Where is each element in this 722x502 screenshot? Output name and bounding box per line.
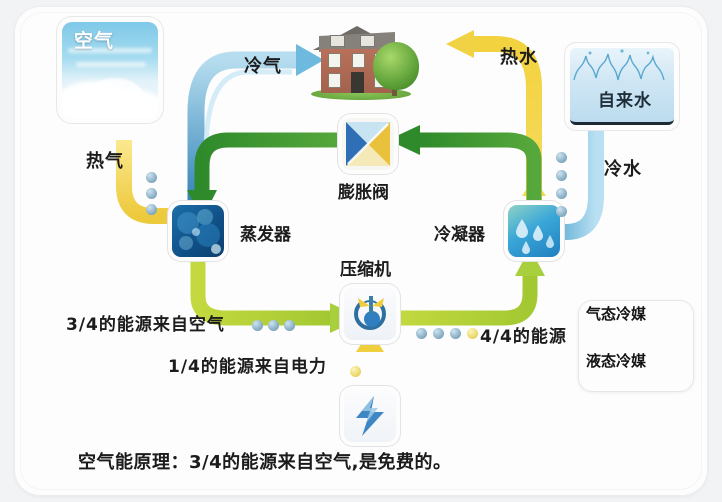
water-splash-icon (570, 48, 674, 82)
total-energy-dot-electric (467, 328, 478, 339)
caption-text: 空气能原理：3/4的能源来自空气,是免费的。 (78, 448, 451, 474)
evaporator-label: 蒸发器 (240, 220, 291, 245)
evaporator-icon[interactable] (172, 205, 224, 257)
air-energy-dot (146, 188, 157, 199)
condenser-label: 冷凝器 (434, 220, 485, 245)
hot-water-label: 热水 (500, 48, 538, 68)
electric-energy-dot (350, 366, 361, 377)
expansion-valve-icon[interactable] (342, 118, 394, 170)
air-energy-dot (268, 320, 279, 331)
cool-air-label: 冷气 (244, 52, 282, 78)
hot-air-label: 热气 (86, 152, 124, 172)
cold-water-text: 冷水 (604, 159, 642, 180)
total-energy-dot (450, 328, 461, 339)
condenser-icon[interactable] (508, 205, 560, 257)
water-energy-dot (556, 188, 567, 199)
legend-gas-label: 气态冷媒 (586, 303, 646, 324)
water-energy-dot (556, 206, 567, 217)
total-energy-dot (433, 328, 444, 339)
air-energy-dot (146, 172, 157, 183)
compressor-icon[interactable] (344, 288, 396, 340)
air-energy-dot (146, 204, 157, 215)
lightning-bolt-icon[interactable] (344, 390, 396, 442)
diagram-canvas: 空气 自来水 膨胀阀 (0, 0, 722, 502)
tap-water-label: 自来水 (598, 86, 652, 111)
compressor-label: 压缩机 (340, 255, 391, 280)
air-source-label: 空气 (74, 26, 114, 53)
expansion-valve-label: 膨胀阀 (338, 178, 389, 203)
water-energy-dot (556, 170, 567, 181)
hot-air-text: 热气 (86, 151, 124, 172)
energy-from-electricity-note: 1/4的能源来自电力 (168, 352, 327, 377)
house-image (305, 22, 417, 100)
total-energy-dot (416, 328, 427, 339)
cold-water-label: 冷水 (604, 160, 642, 180)
legend-liquid-label: 液态冷媒 (586, 350, 646, 371)
air-energy-dot (284, 320, 295, 331)
air-energy-dot (252, 320, 263, 331)
water-energy-dot (556, 152, 567, 163)
energy-total-note: 4/4的能源 (480, 322, 567, 347)
hot-water-text: 热水 (500, 47, 538, 68)
energy-from-air-note: 3/4的能源来自空气 (66, 310, 225, 335)
